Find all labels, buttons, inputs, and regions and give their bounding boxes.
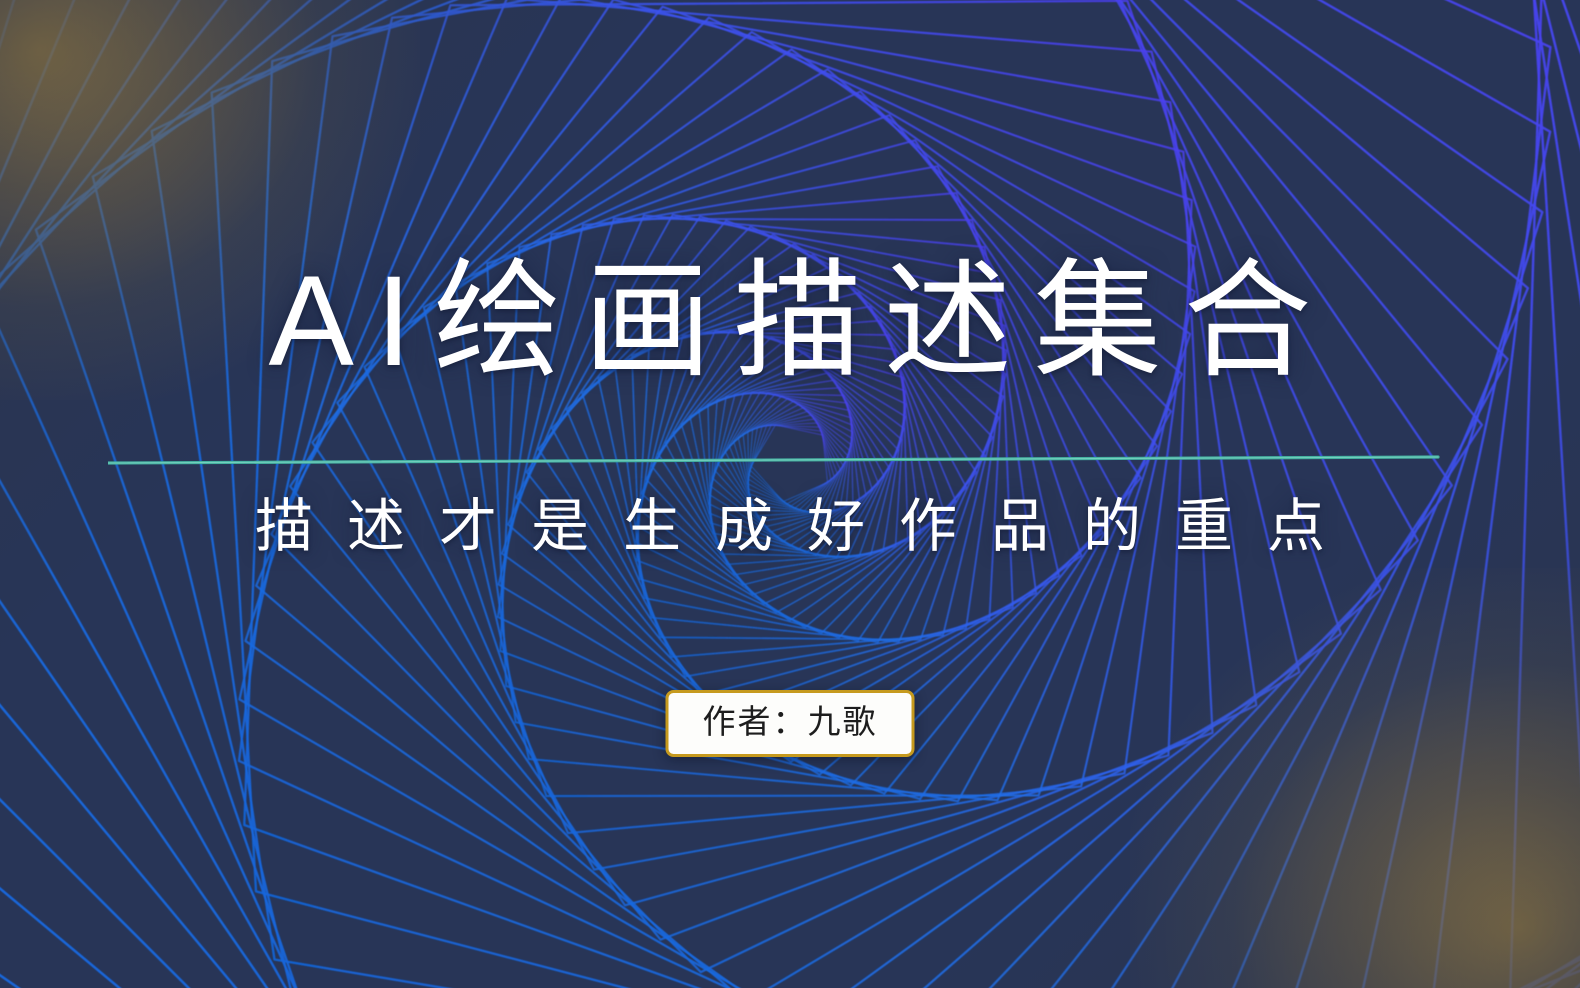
page-subtitle: 描述才是生成好作品的重点 <box>0 498 1580 556</box>
author-badge: 作者：九歌 <box>666 690 915 757</box>
page-title: AI绘画描述集合 <box>0 258 1580 386</box>
title-slide: AI绘画描述集合 描述才是生成好作品的重点 作者：九歌 <box>0 0 1580 988</box>
title-divider <box>108 452 1438 466</box>
slide-content: AI绘画描述集合 描述才是生成好作品的重点 作者：九歌 <box>0 0 1580 988</box>
